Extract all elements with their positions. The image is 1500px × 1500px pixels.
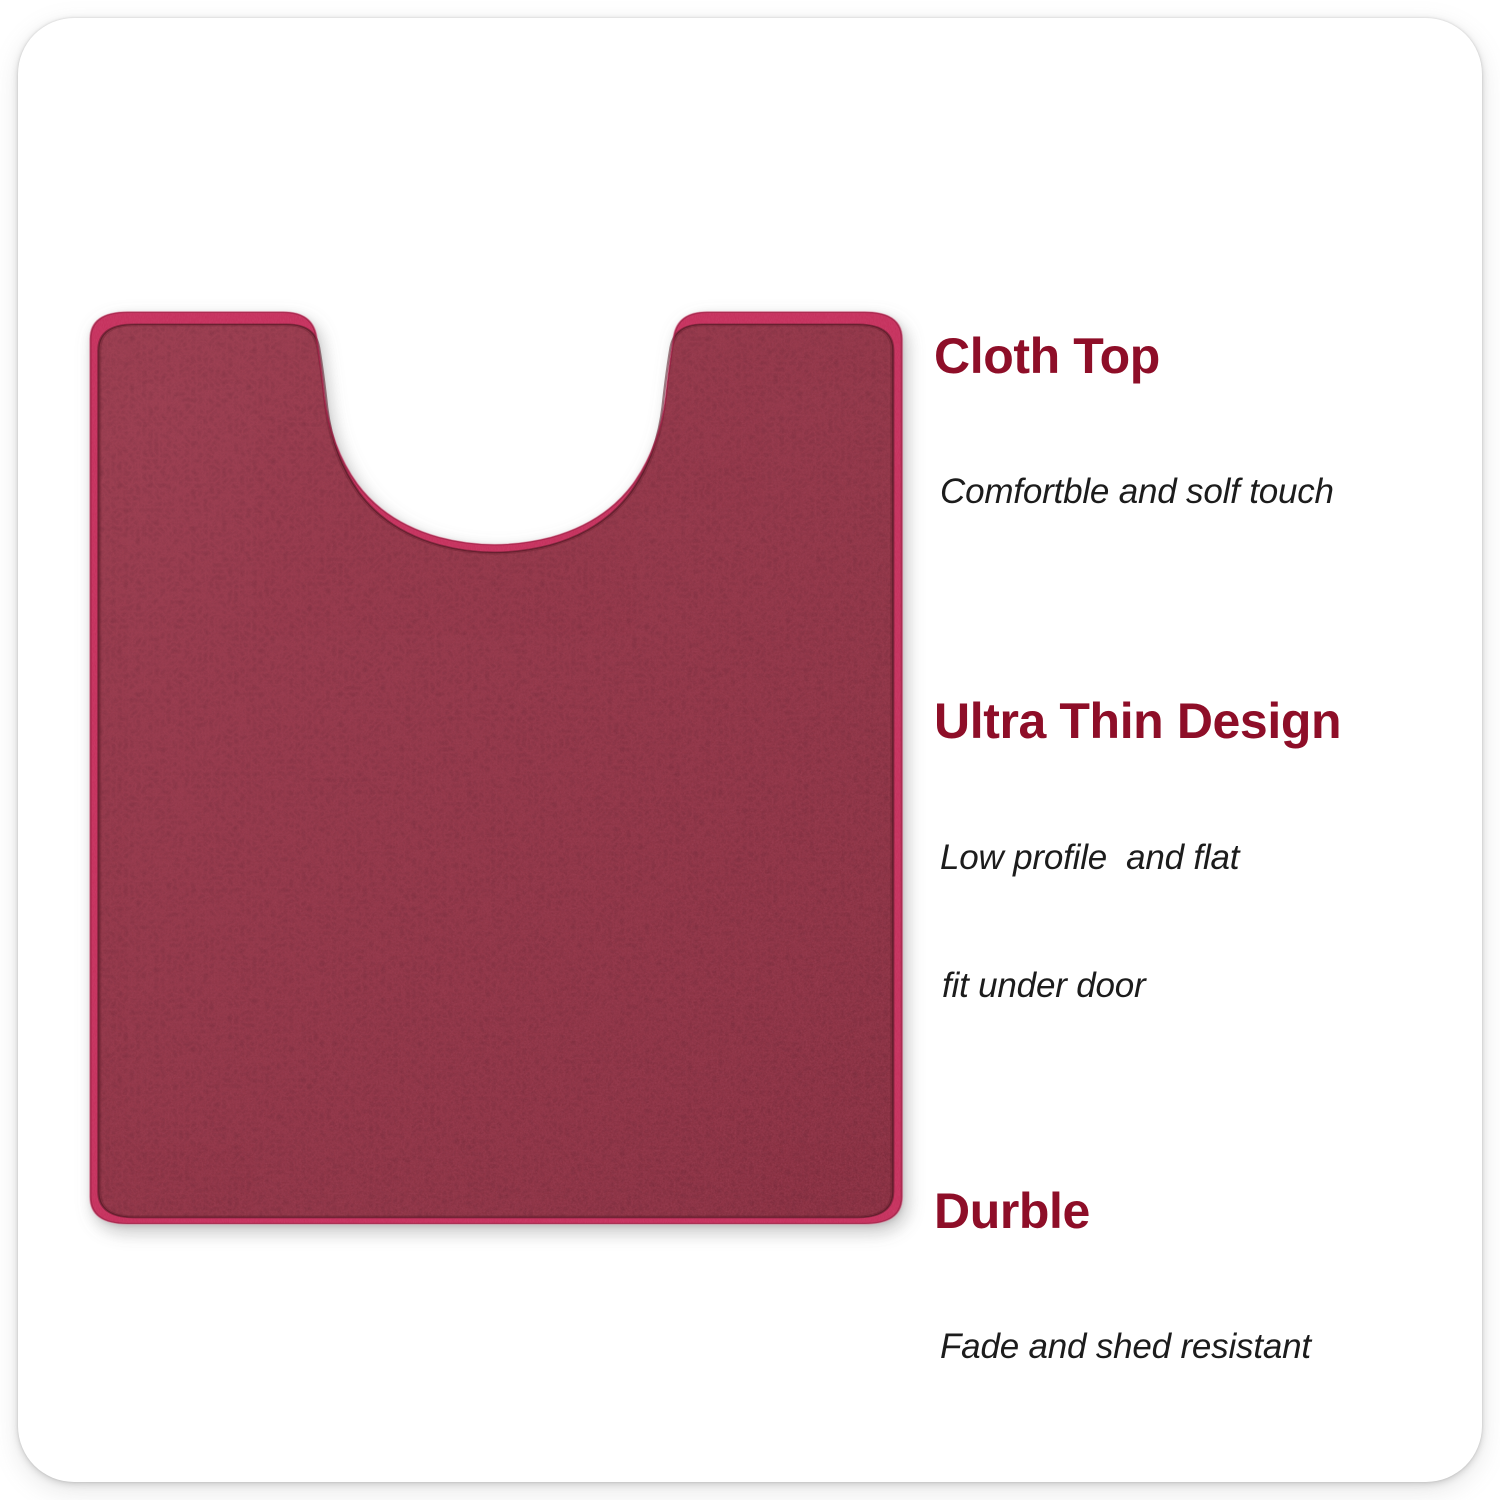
product-image-contour-mat (60, 262, 900, 1222)
feature-subtitle-line: Low profile and flat (940, 837, 1468, 880)
feature-list: Cloth Top Comfortble and solf touch Ultr… (928, 330, 1468, 1500)
feature-subtitle-line: Comfortble and solf touch (940, 471, 1468, 514)
feature-subtitle-durble: Fade and shed resistant (940, 1241, 1468, 1454)
feature-item-durble: Durble Fade and shed resistant (928, 1185, 1468, 1454)
feature-subtitle-line: fit under door (942, 965, 1468, 1008)
feature-subtitle-ultra-thin-design: Low profile and flat fit under door (940, 751, 1468, 1093)
mat-pile-texture (29, 236, 931, 1256)
feature-title-cloth-top: Cloth Top (934, 330, 1468, 382)
feature-title-durble: Durble (934, 1185, 1468, 1237)
feature-item-ultra-thin-design: Ultra Thin Design Low profile and flat f… (928, 695, 1468, 1093)
feature-subtitle-line: Fade and shed resistant (940, 1326, 1468, 1369)
product-infographic: Cloth Top Comfortble and solf touch Ultr… (0, 0, 1500, 1500)
feature-subtitle-cloth-top: Comfortble and solf touch (940, 386, 1468, 599)
feature-item-cloth-top: Cloth Top Comfortble and solf touch (928, 330, 1468, 599)
feature-title-ultra-thin-design: Ultra Thin Design (934, 695, 1468, 747)
